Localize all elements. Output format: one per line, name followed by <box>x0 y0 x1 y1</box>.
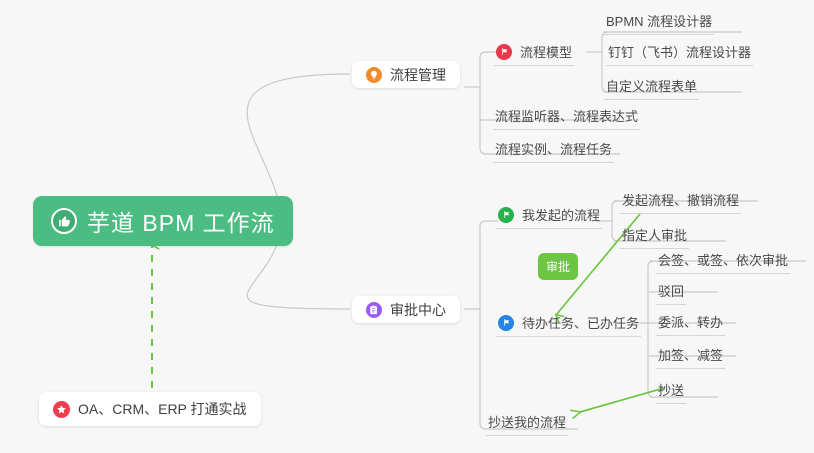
flag-icon <box>496 44 512 60</box>
node-process-instance-task[interactable]: 流程实例、流程任务 <box>493 139 614 163</box>
node-reject[interactable]: 驳回 <box>656 281 686 305</box>
thumbs-up-icon <box>51 208 77 234</box>
node-label: 自定义流程表单 <box>606 76 697 95</box>
root-node[interactable]: 芋道 BPM 工作流 <box>33 196 293 246</box>
node-process-model[interactable]: 流程模型 <box>494 42 574 66</box>
node-add-remove-sign[interactable]: 加签、减签 <box>656 345 725 369</box>
node-label: 钉钉（飞书）流程设计器 <box>608 42 751 61</box>
node-label: 驳回 <box>658 281 684 300</box>
node-label: 加签、减签 <box>658 345 723 364</box>
branch-label: 审批中心 <box>390 300 446 320</box>
branch-approval-center[interactable]: 审批中心 <box>352 296 460 323</box>
branch-process-management[interactable]: 流程管理 <box>352 61 460 88</box>
clipboard-icon <box>366 302 382 318</box>
node-label: 委派、转办 <box>658 312 723 331</box>
node-label: 抄送我的流程 <box>488 412 566 431</box>
node-label: 流程实例、流程任务 <box>495 139 612 158</box>
node-delegate-transfer[interactable]: 委派、转办 <box>656 312 725 336</box>
lightbulb-icon <box>366 67 382 83</box>
mindmap-canvas: 芋道 BPM 工作流 流程管理 流程模型 BPMN 流程设计器 钉钉（飞书）流程… <box>0 0 814 453</box>
approval-badge-label: 审批 <box>546 258 570 275</box>
node-label: 流程模型 <box>520 42 572 61</box>
node-bpmn-designer[interactable]: BPMN 流程设计器 <box>604 11 714 35</box>
root-label: 芋道 BPM 工作流 <box>87 204 275 238</box>
node-process-listener-expression[interactable]: 流程监听器、流程表达式 <box>493 106 640 130</box>
node-label: 流程监听器、流程表达式 <box>495 106 638 125</box>
node-cc-to-me-process[interactable]: 抄送我的流程 <box>486 412 568 436</box>
node-custom-process-form[interactable]: 自定义流程表单 <box>604 76 699 100</box>
integration-note-label: OA、CRM、ERP 打通实战 <box>78 399 247 419</box>
node-dingtalk-feishu-designer[interactable]: 钉钉（飞书）流程设计器 <box>606 42 753 66</box>
node-assignee-approval[interactable]: 指定人审批 <box>620 225 689 249</box>
node-label: 发起流程、撤销流程 <box>622 190 739 209</box>
integration-note-card[interactable]: OA、CRM、ERP 打通实战 <box>39 392 261 426</box>
node-label: 我发起的流程 <box>522 205 600 224</box>
node-label: 待办任务、已办任务 <box>522 313 639 332</box>
node-label: 指定人审批 <box>622 225 687 244</box>
flag-icon <box>498 315 514 331</box>
node-todo-done-tasks[interactable]: 待办任务、已办任务 <box>496 313 641 337</box>
flag-icon <box>498 207 514 223</box>
node-label: 会签、或签、依次审批 <box>658 250 788 269</box>
node-label: 抄送 <box>658 380 684 399</box>
node-cc[interactable]: 抄送 <box>656 380 686 404</box>
approval-badge: 审批 <box>538 253 578 280</box>
node-my-initiated-process[interactable]: 我发起的流程 <box>496 205 602 229</box>
node-start-cancel-process[interactable]: 发起流程、撤销流程 <box>620 190 741 214</box>
node-countersign-or-sequential[interactable]: 会签、或签、依次审批 <box>656 250 790 274</box>
branch-label: 流程管理 <box>390 65 446 85</box>
star-icon <box>53 401 70 418</box>
node-label: BPMN 流程设计器 <box>606 11 712 30</box>
